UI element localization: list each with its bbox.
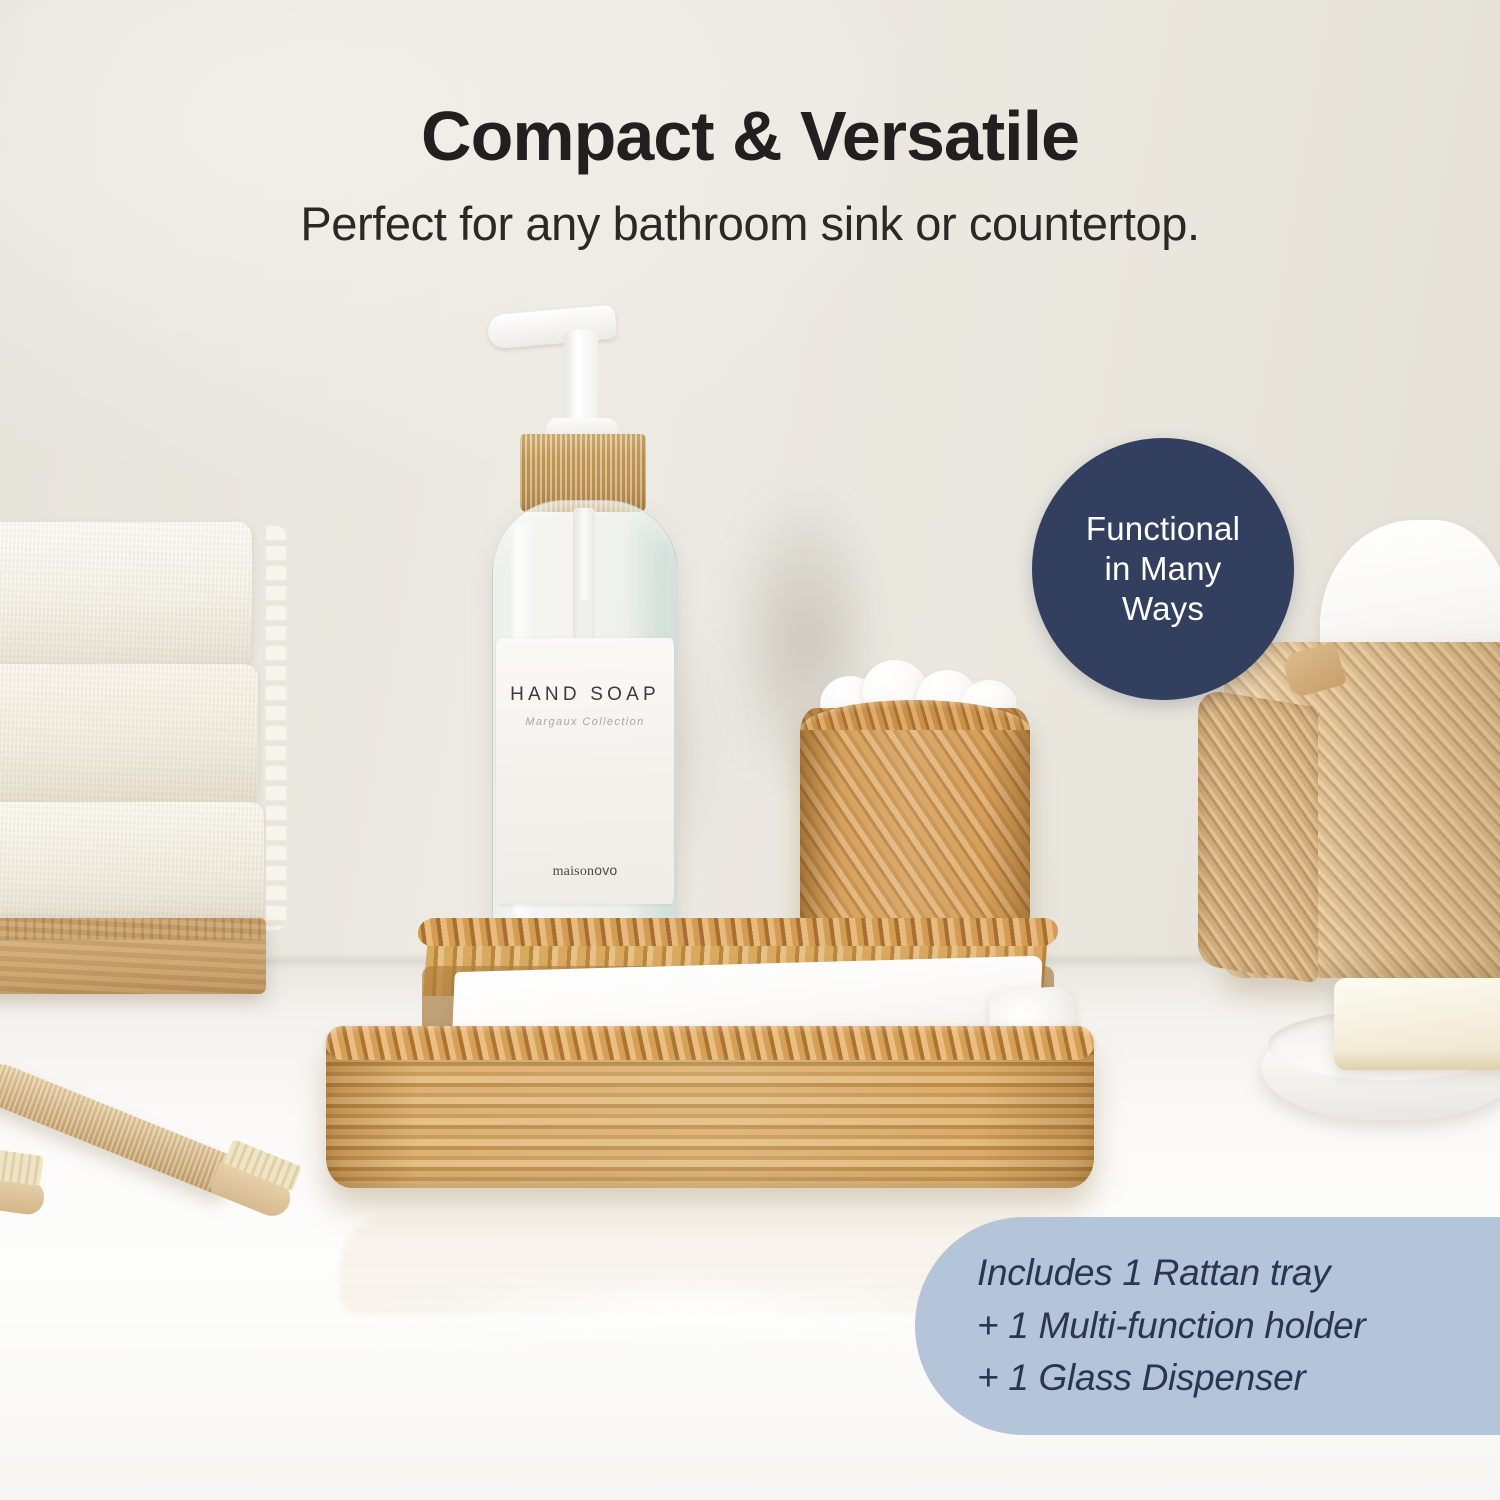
towel-bottom <box>0 802 264 930</box>
tray-back-rim <box>417 918 1059 946</box>
page-headline: Compact & Versatile <box>0 96 1500 176</box>
label-title: HAND SOAP <box>510 684 660 706</box>
functional-badge: Functional in Many Ways <box>1032 438 1294 700</box>
pump-neck <box>564 330 598 432</box>
glass-soap-dispenser: HAND SOAP Margaux Collection maisonovo <box>470 300 720 960</box>
towel-stack <box>0 522 284 972</box>
towel-top <box>0 522 252 666</box>
ceramic-soap-dish <box>1262 980 1500 1140</box>
functional-badge-text: Functional in Many Ways <box>1086 509 1240 630</box>
towel-edge-texture <box>266 526 286 930</box>
towel-middle <box>0 664 258 804</box>
label-collection: Margaux Collection <box>525 716 644 728</box>
tray-front-rim <box>326 1026 1094 1060</box>
tissue-box-side-panel <box>1198 688 1318 983</box>
rattan-tray <box>326 922 1094 1224</box>
page-subheadline: Perfect for any bathroom sink or counter… <box>0 196 1500 251</box>
soap-bar <box>1334 978 1500 1070</box>
callout-line-1: Includes 1 Rattan tray <box>977 1247 1500 1300</box>
brand-sans-part: ovo <box>594 862 617 878</box>
callout-line-2: + 1 Multi-function holder <box>977 1300 1500 1353</box>
label-brand: maisonovo <box>553 862 618 880</box>
bottle-label: HAND SOAP Margaux Collection maisonovo <box>496 638 674 904</box>
callout-line-3: + 1 Glass Dispenser <box>977 1352 1500 1405</box>
includes-callout: Includes 1 Rattan tray + 1 Multi-functio… <box>915 1217 1500 1435</box>
brand-serif-part: maison <box>553 864 595 879</box>
wood-tray <box>0 918 266 994</box>
